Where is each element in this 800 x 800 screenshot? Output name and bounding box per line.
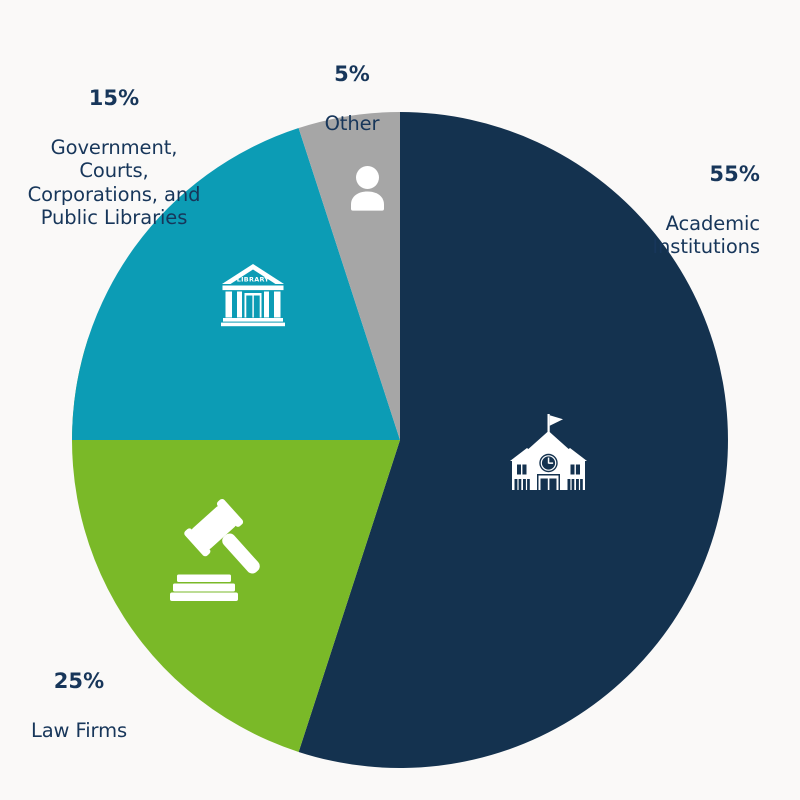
pie-label-academic-percent: 55% xyxy=(548,162,760,187)
pie-label-law-firms-name: Law Firms xyxy=(31,719,127,742)
pie-label-academic: 55% Academic Institutions xyxy=(548,138,760,259)
pie-label-other-percent: 5% xyxy=(272,62,432,87)
pie-label-government: 15% Government, Courts, Corporations, an… xyxy=(0,62,228,230)
pie-label-government-name: Government, Courts, Corporations, and Pu… xyxy=(28,136,201,230)
pie-label-law-firms-percent: 25% xyxy=(0,669,158,694)
pie-chart: LIBRARY 15% Government, Courts, Corporat… xyxy=(0,0,800,800)
pie-label-government-percent: 15% xyxy=(0,86,228,111)
pie-label-law-firms: 25% Law Firms xyxy=(0,645,158,742)
pie-label-other-name: Other xyxy=(325,112,380,135)
pie-label-other: 5% Other xyxy=(272,38,432,135)
library-pediment-label: LIBRARY xyxy=(237,275,270,283)
pie-label-academic-name: Academic Institutions xyxy=(652,212,760,259)
